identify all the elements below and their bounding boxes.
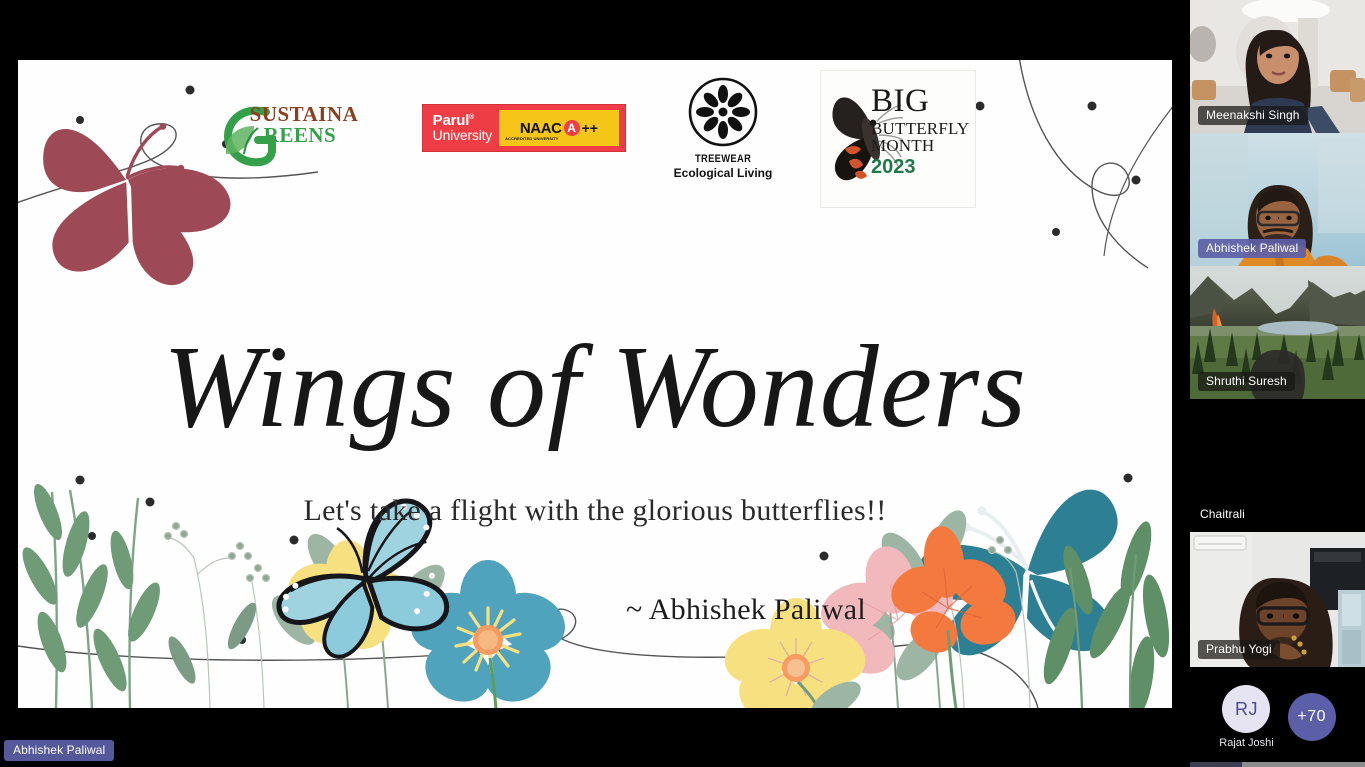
rail-scrollbar[interactable] [1190, 762, 1365, 767]
avatar-tile-rajat-joshi[interactable]: RJ Rajat Joshi [1219, 685, 1273, 749]
bbm-line2: BUTTERFLY [871, 120, 969, 137]
participant-video-rail[interactable]: Meenakshi Singh [1190, 0, 1365, 767]
bbm-line1: BIG [871, 85, 969, 118]
naac-badge: NAAC A ++ ACCREDITED UNIVERSITY [499, 110, 619, 146]
bbm-year: 2023 [871, 157, 969, 177]
yellow-flower-left [284, 540, 414, 658]
big-butterfly-month-logo: BIG BUTTERFLY MONTH 2023 [820, 70, 976, 208]
participant-name-prabhu-yogi: Prabhu Yogi [1198, 640, 1280, 659]
participant-tile-chaitrali[interactable]: Chaitrali [1190, 399, 1365, 532]
participant-name-chaitrali: Chaitrali [1198, 505, 1253, 524]
participant-tile-shruthi-suresh[interactable]: Shruthi Suresh [1190, 266, 1365, 399]
participant-tile-meenakshi-singh[interactable]: Meenakshi Singh [1190, 0, 1365, 133]
participant-tile-prabhu-yogi[interactable]: Prabhu Yogi [1190, 532, 1365, 667]
overflow-participant-count: +70 [1288, 693, 1336, 741]
sustaina-line2: REENS [264, 125, 359, 146]
shared-screen-stage[interactable]: SUSTAINA REENS Parul® University [0, 0, 1190, 767]
presenter-name-badge: Abhishek Paliwal [4, 740, 114, 761]
avatar-name-rajat-joshi: Rajat Joshi [1219, 737, 1273, 749]
slide-subtitle: Let's take a flight with the glorious bu… [18, 494, 1172, 528]
naac-grade: A [564, 120, 580, 136]
avatar-tile-overflow[interactable]: +70 [1288, 693, 1336, 741]
sponsor-logo-row: SUSTAINA REENS Parul® University [18, 70, 1172, 210]
avatar-initials: RJ [1222, 685, 1270, 733]
naac-sublabel: ACCREDITED UNIVERSITY [505, 136, 558, 141]
slide-title: Wings of Wonders [18, 328, 1172, 446]
rail-scrollbar-thumb[interactable] [1190, 762, 1242, 767]
parul-university-logo: Parul® University NAAC A ++ ACCREDITED U… [422, 104, 626, 152]
blue-flower [402, 560, 574, 708]
sustaina-line1: SUSTAINA [250, 104, 359, 125]
treewear-name: TREEWEAR [695, 153, 751, 165]
parul-registered-mark: ® [469, 114, 474, 121]
parul-line2: University [433, 128, 492, 143]
treewear-tagline: Ecological Living [674, 166, 773, 180]
swirl-line-bottom [18, 609, 1038, 708]
treewear-leaf-circle-icon [687, 76, 759, 148]
presentation-slide[interactable]: SUSTAINA REENS Parul® University [18, 60, 1172, 708]
avatar-tiles-row[interactable]: RJ Rajat Joshi +70 [1190, 667, 1365, 767]
orange-flower [883, 524, 1022, 659]
participant-tile-abhishek-paliwal[interactable]: Abhishek Paliwal [1190, 133, 1365, 266]
treewear-logo: TREEWEAR Ecological Living [674, 76, 773, 180]
naac-label: NAAC [520, 121, 562, 136]
participant-name-shruthi-suresh: Shruthi Suresh [1198, 372, 1295, 391]
sustaina-greens-logo: SUSTAINA REENS [214, 92, 374, 172]
participant-name-abhishek-paliwal: Abhishek Paliwal [1198, 239, 1306, 258]
slide-byline: ~ Abhishek Paliwal [626, 593, 866, 627]
meeting-screen: SUSTAINA REENS Parul® University [0, 0, 1365, 767]
bbm-line3: MONTH [871, 137, 969, 154]
participant-name-meenakshi-singh: Meenakshi Singh [1198, 106, 1308, 125]
naac-grade-suffix: ++ [582, 120, 598, 136]
